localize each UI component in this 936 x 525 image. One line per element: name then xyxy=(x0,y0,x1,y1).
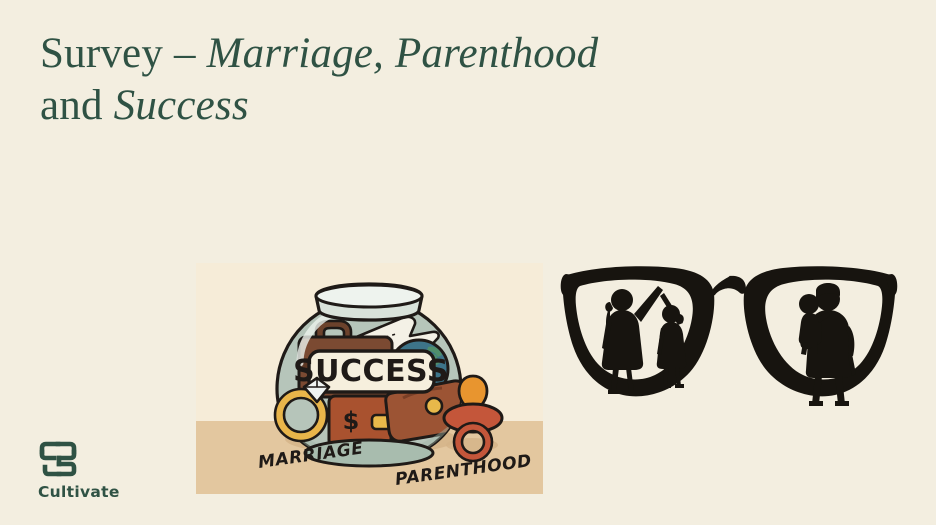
title-line-2-regular: and xyxy=(40,82,114,129)
family-glasses-graphic xyxy=(560,262,898,427)
cultivate-bracket-mark-icon xyxy=(38,440,80,478)
title-line-2: and Success xyxy=(40,80,740,132)
title-line-1: Survey – Marriage, Parenthood xyxy=(40,28,740,80)
cultivate-logo: Cultivate xyxy=(38,440,148,501)
title-line-1-regular: Survey – xyxy=(40,30,207,77)
family-glasses-svg xyxy=(560,262,898,427)
success-jar-svg: $ xyxy=(196,263,543,494)
title-line-1-italic: Marriage, Parenthood xyxy=(207,30,599,77)
svg-text:$: $ xyxy=(343,407,360,435)
page-title: Survey – Marriage, Parenthood and Succes… xyxy=(40,28,740,133)
success-jar-illustration: $ xyxy=(196,263,543,494)
logo-wordmark: Cultivate xyxy=(38,483,148,501)
slide-canvas: Survey – Marriage, Parenthood and Succes… xyxy=(0,0,936,525)
title-line-2-italic: Success xyxy=(114,82,249,129)
jar-rim xyxy=(316,284,422,320)
